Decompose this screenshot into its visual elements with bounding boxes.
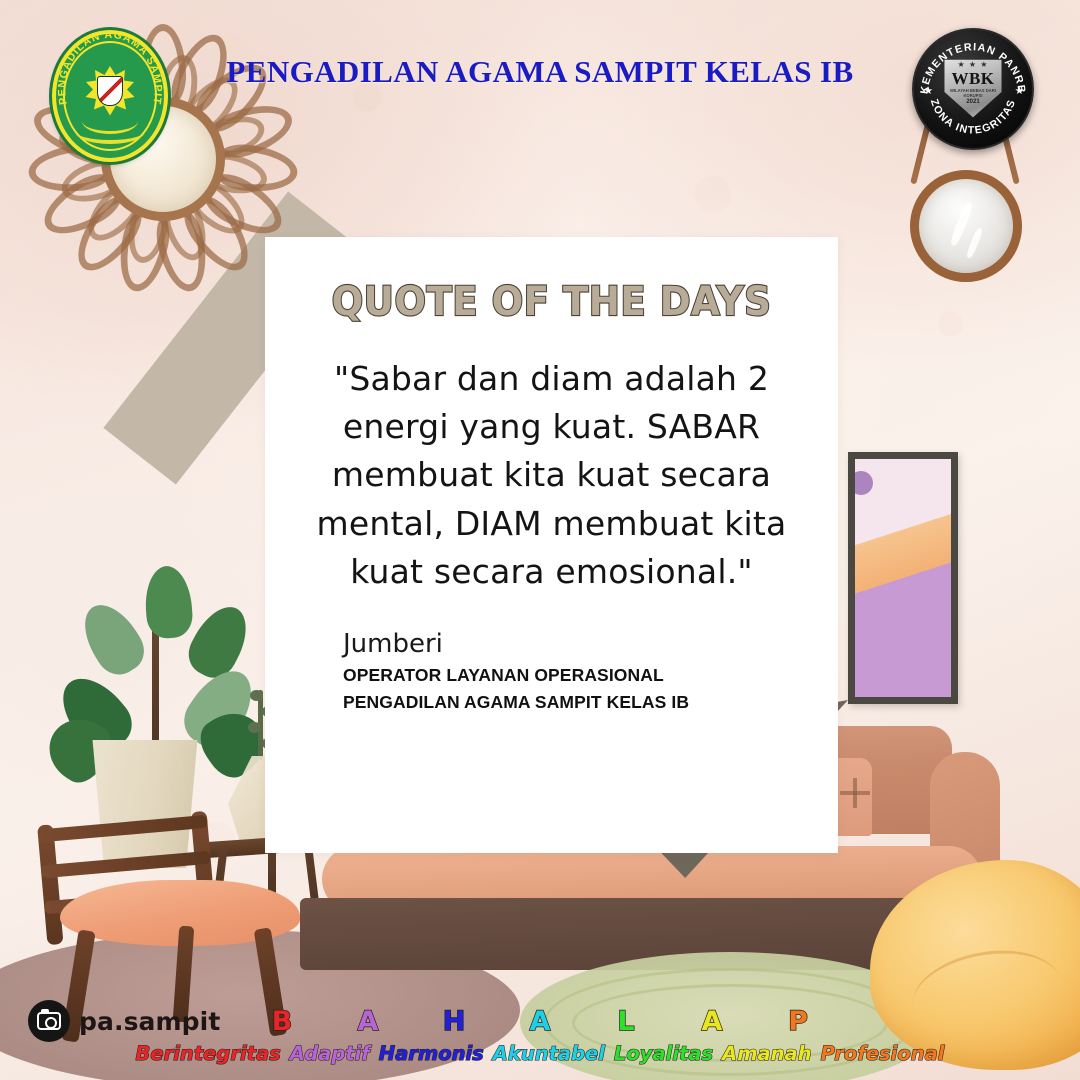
quote-card-title: QUOTE OF THE DAYS [285,279,818,325]
core-value-letter: P [755,1008,841,1035]
core-value-letter: B [239,1008,325,1035]
artwork-blob [855,471,873,495]
chair-rail [41,851,211,879]
core-value-word: Akuntabel [493,1044,605,1064]
sprig-leaf [248,722,261,733]
framed-artwork [848,452,958,704]
badge-year: 2021 [966,99,979,105]
seal-wreath [82,108,138,134]
chair-rail [37,815,207,843]
mirror-glint [965,227,983,259]
author-role: OPERATOR LAYANAN OPERASIONAL [343,664,803,687]
core-value-letter: A [497,1008,583,1035]
plant-leaf [181,597,258,685]
badge-main-label: WBK [951,70,994,88]
poster-canvas: PENGADILAN AGAMA SAMPIT PENGADILAN AGAMA… [0,0,1080,1080]
core-value-word: Profesional [821,1044,945,1064]
badge-stars: ★ ★ ★ [958,61,989,69]
sofa-tuft-detail [840,778,870,808]
core-value-letter: L [583,1008,669,1035]
plant-leaf [72,595,152,683]
core-values-strip: BAHALAP BerintegritasAdaptifHarmonisAkun… [0,1008,1080,1064]
core-value-letter: A [669,1008,755,1035]
badge-disc: KEMENTERIAN PANRB ZONA INTEGRITAS ★ ★ ★ … [912,28,1034,150]
quote-card: QUOTE OF THE DAYS "Sabar dan diam adalah… [265,237,838,853]
core-value-word: Harmonis [379,1044,484,1064]
mirror-glint [949,201,975,247]
artwork-canvas [855,459,951,697]
core-value-word: Amanah [722,1044,812,1064]
author-institution: PENGADILAN AGAMA SAMPIT KELAS IB [343,691,803,714]
core-values-letters: BAHALAP [0,1008,1080,1035]
core-value-letter: A [325,1008,411,1035]
badge-star-icon: ★ [1015,85,1025,97]
core-values-words: BerintegritasAdaptifHarmonisAkuntabelLoy… [0,1044,1080,1064]
core-value-word: Loyalitas [614,1044,713,1064]
badge-sub-label: WILAYAH BEBAS DARI KORUPSI [942,88,1004,99]
author-name: Jumberi [343,629,803,660]
core-value-word: Adaptif [290,1044,370,1064]
mirror-glass [910,170,1022,282]
chair-post [37,824,63,945]
court-seal-logo: PENGADILAN AGAMA SAMPIT [52,30,168,162]
sprig-leaf [250,690,263,701]
core-value-word: Berintegritas [136,1044,281,1064]
quote-attribution: Jumberi OPERATOR LAYANAN OPERASIONAL PEN… [343,629,803,714]
wbk-zona-integritas-badge: KEMENTERIAN PANRB ZONA INTEGRITAS ★ ★ ★ … [912,28,1034,150]
badge-star-icon: ★ [924,85,934,97]
plant-leaf [143,565,194,640]
core-value-letter: H [411,1008,497,1035]
quote-text: "Sabar dan diam adalah 2 energi yang kua… [301,355,802,596]
